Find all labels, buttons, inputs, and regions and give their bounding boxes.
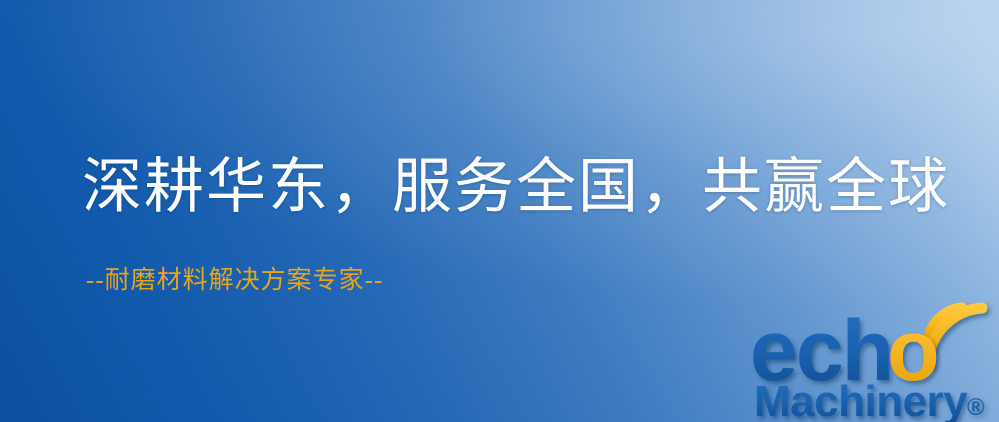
- logo-tagline: Machinery: [754, 377, 968, 422]
- banner-subtitle: --耐磨材料解决方案专家--: [86, 264, 383, 298]
- logo-registered-mark: ®: [967, 394, 985, 421]
- promo-banner: 深耕华东，服务全国，共赢全球 --耐磨材料解决方案专家--: [0, 0, 999, 422]
- banner-headline: 深耕华东，服务全国，共赢全球: [82, 150, 950, 224]
- echo-machinery-logo[interactable]: ech o Machinery ®: [748, 296, 999, 422]
